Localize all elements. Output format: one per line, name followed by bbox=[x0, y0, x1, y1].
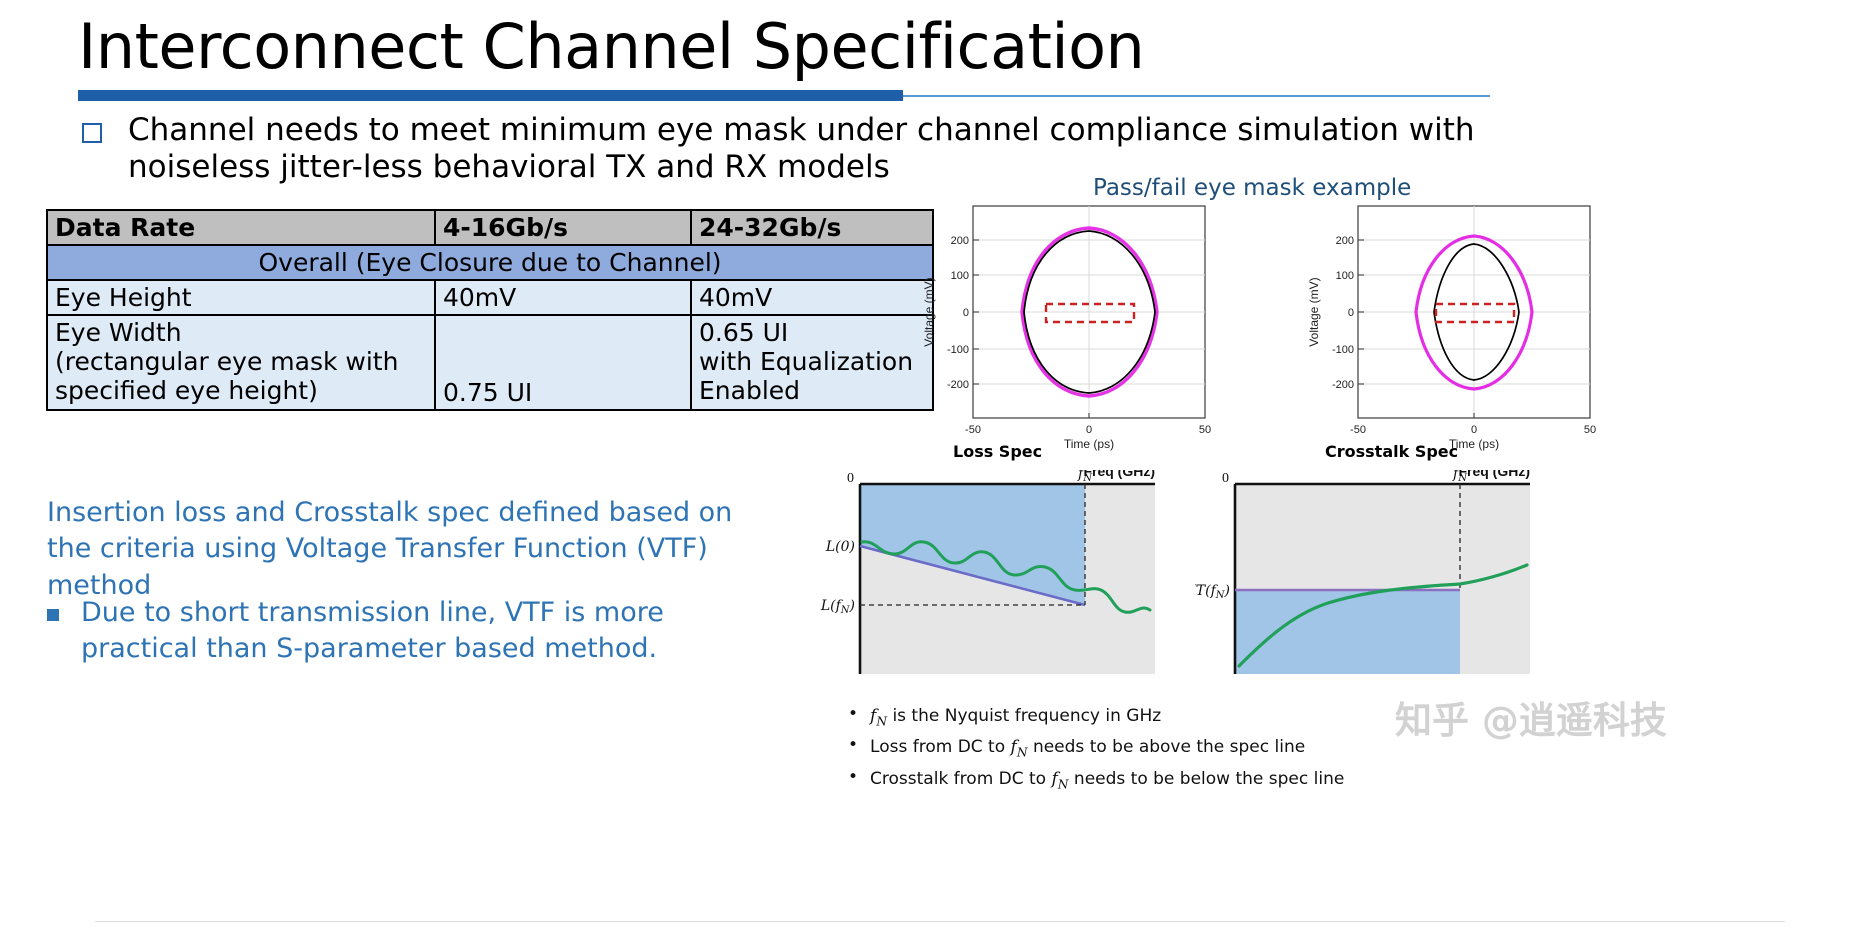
y-tick-label: 100 bbox=[951, 270, 969, 282]
table-section-label: Overall (Eye Closure due to Channel) bbox=[47, 245, 933, 280]
y-axis-label: Voltage (mV) bbox=[1307, 277, 1321, 346]
row-value-eye-width-highrate: 0.65 UI with Equalization Enabled bbox=[691, 315, 933, 410]
title-underline-accent bbox=[78, 90, 903, 101]
row-label-line: (rectangular eye mask with bbox=[55, 347, 427, 376]
y-tick-label: 0 bbox=[963, 307, 969, 319]
y-tick-label: 200 bbox=[951, 235, 969, 247]
bullet-dot-icon: • bbox=[848, 734, 858, 756]
spacer-line bbox=[443, 318, 683, 348]
note-text: Crosstalk from DC to fN needs to be belo… bbox=[870, 766, 1344, 794]
row-label-line: Eye Width bbox=[55, 318, 427, 347]
table-header-row: Data Rate 4-16Gb/s 24-32Gb/s bbox=[47, 210, 933, 245]
square-bullet-icon bbox=[82, 123, 102, 143]
square-bullet-icon bbox=[47, 609, 59, 621]
list-item: • Crosstalk from DC to fN needs to be be… bbox=[848, 766, 1548, 794]
x-tick-label: -50 bbox=[965, 424, 981, 436]
note-text: fN is the Nyquist frequency in GHz bbox=[870, 703, 1161, 731]
table-row: Eye Height 40mV 40mV bbox=[47, 280, 933, 315]
table-header-cell: 4-16Gb/s bbox=[435, 210, 691, 245]
footer-divider bbox=[95, 921, 1785, 922]
crosstalk-spec-caption: Crosstalk Spec bbox=[1325, 442, 1458, 461]
crosstalk-at-fn-label: XT(fN) bbox=[1195, 583, 1230, 601]
row-value-eye-height-lowrate: 40mV bbox=[435, 280, 691, 315]
y-tick-label: 0 bbox=[1348, 307, 1354, 319]
vtf-practical-bullet: Due to short transmission line, VTF is m… bbox=[47, 595, 767, 668]
row-value-line: 0.75 UI bbox=[443, 378, 683, 407]
row-label-eye-width: Eye Width (rectangular eye mask with spe… bbox=[47, 315, 435, 410]
row-value-line: Enabled bbox=[699, 376, 925, 405]
row-value-line: 0.65 UI bbox=[699, 318, 925, 347]
vtf-method-note: Insertion loss and Crosstalk spec define… bbox=[47, 495, 747, 604]
table-section-row: Overall (Eye Closure due to Channel) bbox=[47, 245, 933, 280]
vtf-practical-bullet-text: Due to short transmission line, VTF is m… bbox=[81, 595, 767, 668]
bullet-dot-icon: • bbox=[848, 766, 858, 788]
y-tick-label: 100 bbox=[1336, 270, 1354, 282]
eye-diagram-pass-chart: 200 100 0 -100 -200 Voltage (mV) -50 0 5… bbox=[905, 200, 1215, 455]
x-tick-label: -50 bbox=[1350, 424, 1366, 436]
page-title: Interconnect Channel Specification bbox=[78, 10, 1144, 83]
y-tick-label: 200 bbox=[1336, 235, 1354, 247]
watermark: 知乎 @逍遥科技 bbox=[1395, 690, 1667, 744]
row-label-line: specified eye height) bbox=[55, 376, 427, 405]
crosstalk-spec-chart: 0 fN Freq (GHz) XT(fN) bbox=[1195, 470, 1540, 685]
bullet-dot-icon: • bbox=[848, 703, 858, 725]
loss-spec-chart: 0 fN Freq (GHz) L(0) L(fN) bbox=[820, 470, 1165, 685]
x-tick-label: 0 bbox=[1471, 424, 1477, 436]
freq-axis-label: Freq (GHz) bbox=[1083, 470, 1155, 479]
x-axis-label: Time (ps) bbox=[1064, 437, 1114, 451]
row-label-eye-height: Eye Height bbox=[47, 280, 435, 315]
origin-label: 0 bbox=[847, 471, 854, 486]
row-value-eye-height-highrate: 40mV bbox=[691, 280, 933, 315]
eye-section-title: Pass/fail eye mask example bbox=[1093, 175, 1411, 201]
loss-at-fn-label: L(fN) bbox=[820, 598, 855, 616]
spacer-line bbox=[443, 348, 683, 378]
title-underline-hairline bbox=[903, 95, 1490, 97]
note-text: Loss from DC to fN needs to be above the… bbox=[870, 734, 1305, 762]
y-tick-label: -100 bbox=[947, 344, 969, 356]
y-tick-label: -100 bbox=[1332, 344, 1354, 356]
loss-at-dc-label: L(0) bbox=[825, 539, 855, 555]
row-value-eye-width-lowrate: 0.75 UI bbox=[435, 315, 691, 410]
y-tick-label: -200 bbox=[947, 379, 969, 391]
eye-diagram-fail-chart: 200 100 0 -100 -200 Voltage (mV) -50 0 5… bbox=[1290, 200, 1600, 455]
y-tick-label: -200 bbox=[1332, 379, 1354, 391]
y-axis-label: Voltage (mV) bbox=[922, 277, 936, 346]
origin-label: 0 bbox=[1222, 471, 1229, 486]
loss-spec-caption: Loss Spec bbox=[953, 442, 1042, 461]
x-tick-label: 50 bbox=[1584, 424, 1596, 436]
spec-table: Data Rate 4-16Gb/s 24-32Gb/s Overall (Ey… bbox=[46, 209, 934, 411]
x-tick-label: 50 bbox=[1199, 424, 1211, 436]
table-header-cell: Data Rate bbox=[47, 210, 435, 245]
table-row: Eye Width (rectangular eye mask with spe… bbox=[47, 315, 933, 410]
freq-axis-label: Freq (GHz) bbox=[1458, 470, 1530, 479]
x-tick-label: 0 bbox=[1086, 424, 1092, 436]
table-header-cell: 24-32Gb/s bbox=[691, 210, 933, 245]
row-value-line: with Equalization bbox=[699, 347, 925, 376]
